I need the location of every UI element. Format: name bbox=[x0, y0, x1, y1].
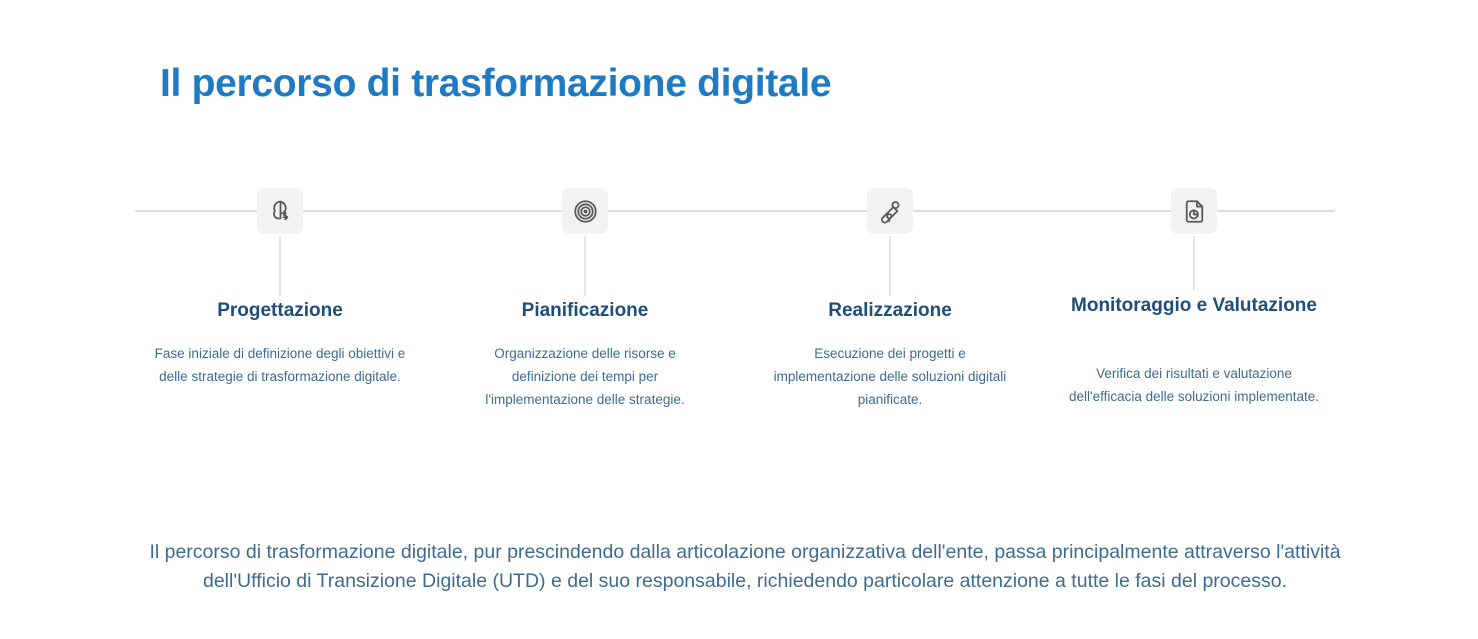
step-description: Fase iniziale di definizione degli obiet… bbox=[127, 342, 433, 388]
target-bullseye-icon[interactable] bbox=[562, 188, 608, 234]
step-heading: Progettazione bbox=[127, 299, 433, 323]
step-description: Organizzazione delle risorse e definizio… bbox=[432, 342, 738, 412]
step-description: Esecuzione dei progetti e implementazion… bbox=[737, 342, 1043, 412]
step-description: Verifica dei risultati e valutazione del… bbox=[1041, 362, 1347, 408]
step-connector bbox=[890, 236, 891, 296]
step-heading: Realizzazione bbox=[737, 299, 1043, 323]
step-connector bbox=[585, 236, 586, 296]
fountain-pen-nib-icon[interactable] bbox=[867, 188, 913, 234]
brain-idea-icon[interactable] bbox=[257, 188, 303, 234]
slide-canvas: Il percorso di trasformazione digitale P… bbox=[0, 0, 1478, 639]
footer-note: Il percorso di trasformazione digitale, … bbox=[120, 538, 1370, 595]
step-connector bbox=[1194, 236, 1195, 290]
step-heading: Pianificazione bbox=[432, 299, 738, 323]
step-connector bbox=[280, 236, 281, 296]
step-heading: Monitoraggio e Valutazione bbox=[1041, 294, 1347, 318]
document-pie-chart-icon[interactable] bbox=[1171, 188, 1217, 234]
